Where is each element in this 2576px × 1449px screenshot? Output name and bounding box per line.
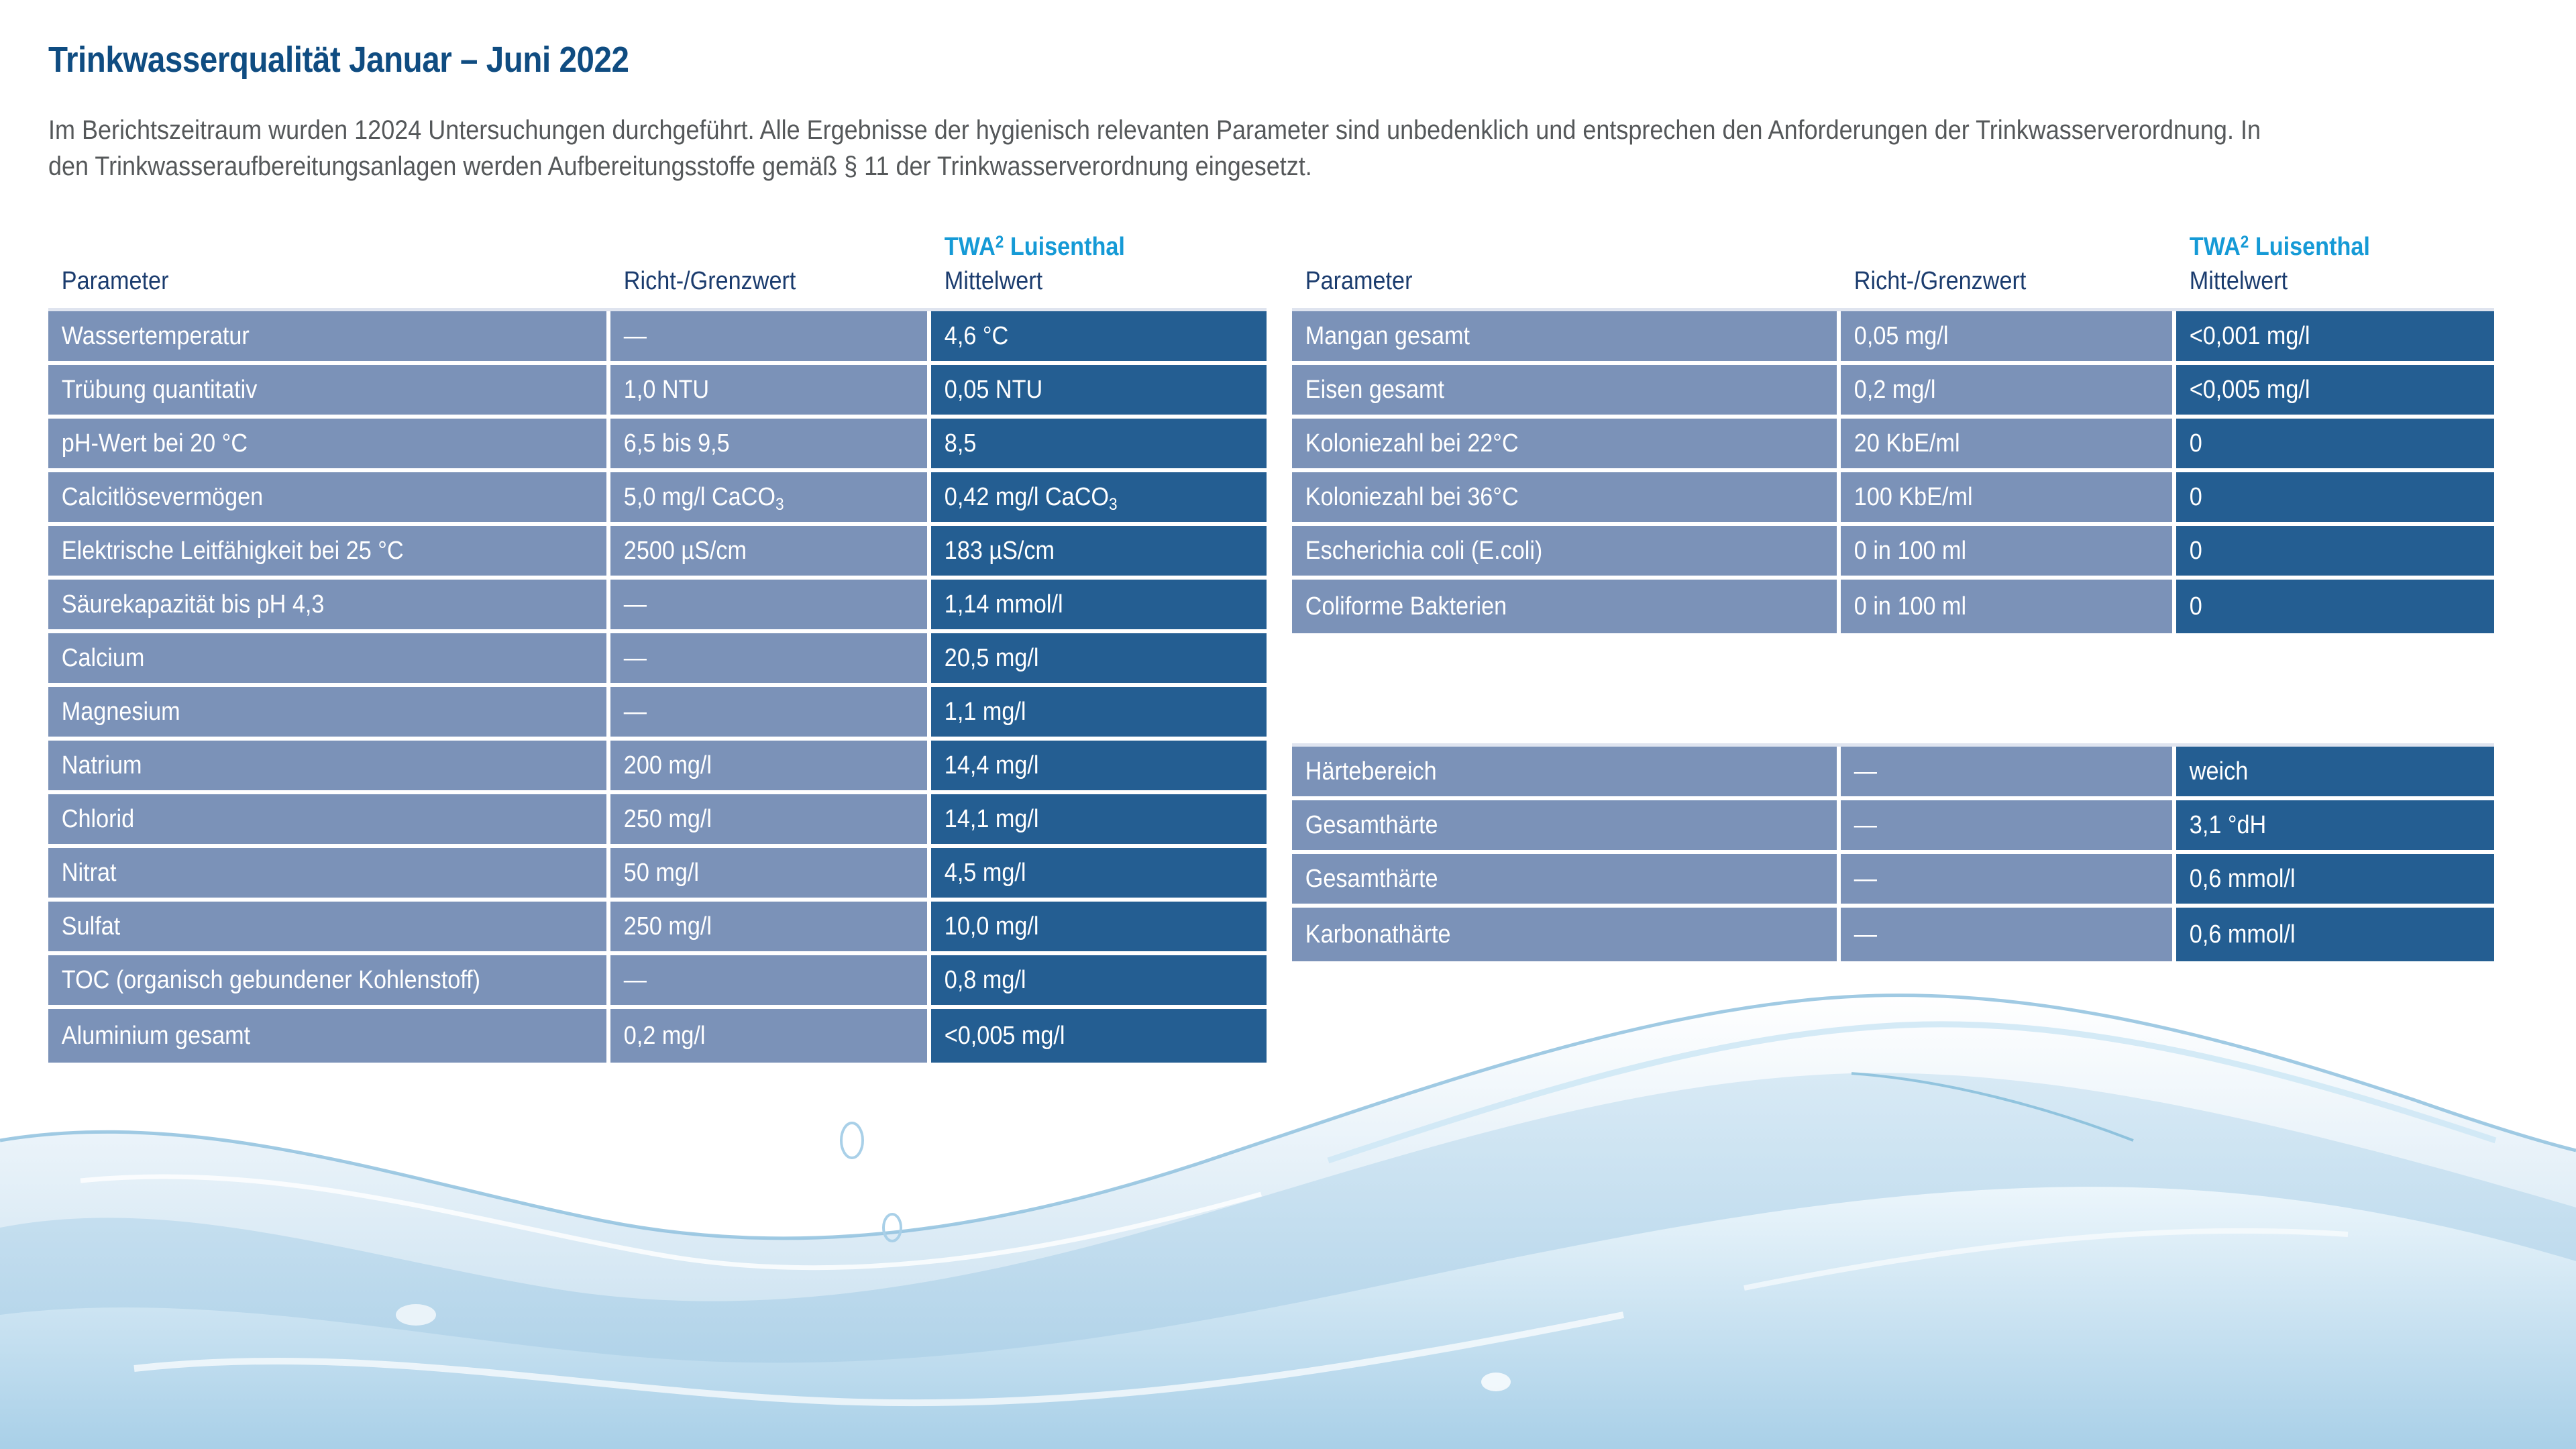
table-row: Mangan gesamt0,05 mg/l<0,001 mg/l: [1292, 311, 2494, 365]
header-cell-value: TWA2 Luisenthal Mittelwert: [931, 211, 1267, 311]
cell-value-text: 0: [2176, 484, 2463, 510]
table-row: Magnesium—1,1 mg/l: [48, 687, 1267, 741]
cell-value: <0,005 mg/l: [2176, 365, 2494, 419]
cell-value-text: 0: [2176, 594, 2463, 619]
cell-value: 183 µS/cm: [931, 526, 1267, 580]
cell-limit-text: 250 mg/l: [610, 914, 896, 939]
cell-parameter-text: Coliforme Bakterien: [1292, 594, 1782, 619]
cell-limit: 0,05 mg/l: [1841, 311, 2176, 365]
table-left-body: Wassertemperatur—4,6 °CTrübung quantitat…: [48, 311, 1267, 1063]
cell-parameter-text: Nitrat: [48, 860, 551, 885]
cell-parameter-text: Trübung quantitativ: [48, 377, 551, 402]
table-row: TOC (organisch gebundener Kohlenstoff)—0…: [48, 955, 1267, 1009]
cell-limit: —: [1841, 854, 2176, 908]
cell-value: 10,0 mg/l: [931, 902, 1267, 955]
cell-value-text: 183 µS/cm: [931, 538, 1233, 563]
cell-parameter: Härtebereich: [1292, 747, 1841, 800]
header-label-mittelwert: Mittelwert: [931, 267, 1233, 296]
table-row: Gesamthärte—3,1 °dH: [1292, 800, 2494, 854]
cell-parameter: Trübung quantitativ: [48, 365, 610, 419]
cell-parameter: Koloniezahl bei 36°C: [1292, 472, 1841, 526]
cell-value-text: <0,005 mg/l: [931, 1023, 1233, 1049]
cell-value: 1,14 mmol/l: [931, 580, 1267, 633]
cell-value-text: 0,6 mmol/l: [2176, 866, 2463, 892]
cell-limit-text: —: [610, 699, 896, 724]
cell-limit: 200 mg/l: [610, 741, 931, 794]
cell-limit: 5,0 mg/l CaCO3: [610, 472, 931, 526]
cell-value: 0: [2176, 472, 2494, 526]
cell-limit: 2500 µS/cm: [610, 526, 931, 580]
header-label-twa-luisenthal: TWA2 Luisenthal: [2176, 233, 2463, 262]
cell-limit: —: [610, 580, 931, 633]
cell-value: 3,1 °dH: [2176, 800, 2494, 854]
header-label-parameter: Parameter: [1292, 267, 1786, 296]
cell-value-text: 0,8 mg/l: [931, 967, 1233, 993]
cell-parameter-text: pH-Wert bei 20 °C: [48, 431, 551, 456]
cell-value-text: 14,4 mg/l: [931, 753, 1233, 778]
cell-value: 4,5 mg/l: [931, 848, 1267, 902]
cell-parameter-text: Sulfat: [48, 914, 551, 939]
header-label-limit: Richt-/Grenzwert: [610, 267, 899, 296]
cell-parameter-text: TOC (organisch gebundener Kohlenstoff): [48, 967, 551, 993]
cell-limit: 20 KbE/ml: [1841, 419, 2176, 472]
table-row: Escherichia coli (E.coli)0 in 100 ml0: [1292, 526, 2494, 580]
table-row: Wassertemperatur—4,6 °C: [48, 311, 1267, 365]
cell-value: 0: [2176, 419, 2494, 472]
cell-limit-text: —: [610, 967, 896, 993]
cell-parameter-text: Natrium: [48, 753, 551, 778]
cell-parameter: Chlorid: [48, 794, 610, 848]
table-row: Sulfat250 mg/l10,0 mg/l: [48, 902, 1267, 955]
cell-parameter: Sulfat: [48, 902, 610, 955]
cell-limit: 250 mg/l: [610, 794, 931, 848]
intro-paragraph: Im Berichtszeitraum wurden 12024 Untersu…: [48, 113, 2276, 184]
cell-value: 0,05 NTU: [931, 365, 1267, 419]
cell-limit-text: —: [610, 645, 896, 671]
cell-limit: —: [1841, 800, 2176, 854]
cell-limit: 250 mg/l: [610, 902, 931, 955]
cell-parameter: Coliforme Bakterien: [1292, 580, 1841, 633]
cell-parameter: Gesamthärte: [1292, 854, 1841, 908]
cell-value-text: 0: [2176, 538, 2463, 563]
cell-limit: —: [1841, 908, 2176, 961]
cell-parameter-text: Koloniezahl bei 22°C: [1292, 431, 1782, 456]
table-row: Eisen gesamt0,2 mg/l<0,005 mg/l: [1292, 365, 2494, 419]
cell-parameter: Escherichia coli (E.coli): [1292, 526, 1841, 580]
cell-parameter-text: Koloniezahl bei 36°C: [1292, 484, 1782, 510]
table-row: Aluminium gesamt0,2 mg/l<0,005 mg/l: [48, 1009, 1267, 1063]
table-row: Säurekapazität bis pH 4,3—1,14 mmol/l: [48, 580, 1267, 633]
cell-limit-text: 0 in 100 ml: [1841, 538, 2139, 563]
cell-value: <0,001 mg/l: [2176, 311, 2494, 365]
cell-parameter-text: Gesamthärte: [1292, 866, 1782, 892]
cell-parameter-text: Elektrische Leitfähigkeit bei 25 °C: [48, 538, 551, 563]
cell-limit: 1,0 NTU: [610, 365, 931, 419]
cell-value: 0,6 mmol/l: [2176, 854, 2494, 908]
cell-parameter: Calcium: [48, 633, 610, 687]
cell-parameter: Gesamthärte: [1292, 800, 1841, 854]
cell-limit-text: —: [610, 592, 896, 617]
cell-value: weich: [2176, 747, 2494, 800]
table-row: Koloniezahl bei 36°C100 KbE/ml0: [1292, 472, 2494, 526]
table-row: Calcium—20,5 mg/l: [48, 633, 1267, 687]
table-row: Chlorid250 mg/l14,1 mg/l: [48, 794, 1267, 848]
cell-value-text: 10,0 mg/l: [931, 914, 1233, 939]
cell-value-text: 0,42 mg/l CaCO3: [931, 484, 1233, 510]
cell-value-text: 0,05 NTU: [931, 377, 1233, 402]
cell-parameter-text: Calcitlösevermögen: [48, 484, 551, 510]
cell-parameter-text: Magnesium: [48, 699, 551, 724]
cell-parameter-text: Calcium: [48, 645, 551, 671]
cell-limit: 0,2 mg/l: [1841, 365, 2176, 419]
page-title: Trinkwasserqualität Januar – Juni 2022: [48, 39, 629, 80]
cell-value-text: 14,1 mg/l: [931, 806, 1233, 832]
header-cell-parameter: Parameter: [48, 211, 610, 311]
table-chemical-microbiological-parameters: Parameter Richt-/Grenzwert TWA2 Luisenth…: [1292, 211, 2494, 633]
cell-limit-text: 0 in 100 ml: [1841, 594, 2139, 619]
table-row: Trübung quantitativ1,0 NTU0,05 NTU: [48, 365, 1267, 419]
header-cell-limit: Richt-/Grenzwert: [610, 211, 931, 311]
cell-limit: 100 KbE/ml: [1841, 472, 2176, 526]
cell-parameter: Wassertemperatur: [48, 311, 610, 365]
cell-limit-text: —: [1841, 866, 2139, 892]
cell-limit: 6,5 bis 9,5: [610, 419, 931, 472]
cell-limit-text: 1,0 NTU: [610, 377, 896, 402]
header-cell-value: TWA2 Luisenthal Mittelwert: [2176, 211, 2494, 311]
table-row: pH-Wert bei 20 °C6,5 bis 9,58,5: [48, 419, 1267, 472]
table-right-chem-body: Mangan gesamt0,05 mg/l<0,001 mg/lEisen g…: [1292, 311, 2494, 633]
cell-value-text: 0: [2176, 431, 2463, 456]
cell-limit-text: 250 mg/l: [610, 806, 896, 832]
cell-parameter: Koloniezahl bei 22°C: [1292, 419, 1841, 472]
header-cell-parameter: Parameter: [1292, 211, 1841, 311]
cell-parameter-text: Chlorid: [48, 806, 551, 832]
cell-parameter-text: Härtebereich: [1292, 759, 1782, 784]
cell-limit-text: 2500 µS/cm: [610, 538, 896, 563]
cell-value: 0,6 mmol/l: [2176, 908, 2494, 961]
cell-parameter: TOC (organisch gebundener Kohlenstoff): [48, 955, 610, 1009]
cell-parameter-text: Karbonathärte: [1292, 922, 1782, 947]
cell-parameter: pH-Wert bei 20 °C: [48, 419, 610, 472]
cell-value: 0: [2176, 526, 2494, 580]
table-physical-chemical-parameters: Parameter Richt-/Grenzwert TWA2 Luisenth…: [48, 211, 1267, 1063]
header-cell-limit: Richt-/Grenzwert: [1841, 211, 2176, 311]
cell-limit-text: —: [610, 323, 896, 349]
cell-limit-text: 5,0 mg/l CaCO3: [610, 484, 896, 510]
cell-value-text: 4,5 mg/l: [931, 860, 1233, 885]
cell-limit: —: [1841, 747, 2176, 800]
cell-value: 14,1 mg/l: [931, 794, 1267, 848]
cell-parameter: Magnesium: [48, 687, 610, 741]
cell-limit: —: [610, 311, 931, 365]
cell-value-text: 20,5 mg/l: [931, 645, 1233, 671]
table-header-row: Parameter Richt-/Grenzwert TWA2 Luisenth…: [48, 211, 1267, 311]
cell-value: <0,005 mg/l: [931, 1009, 1267, 1063]
cell-parameter: Nitrat: [48, 848, 610, 902]
cell-parameter-text: Eisen gesamt: [1292, 377, 1782, 402]
cell-value: 0: [2176, 580, 2494, 633]
cell-value-text: <0,001 mg/l: [2176, 323, 2463, 349]
cell-parameter: Mangan gesamt: [1292, 311, 1841, 365]
table-row: Härtebereich—weich: [1292, 747, 2494, 800]
cell-limit: 0 in 100 ml: [1841, 526, 2176, 580]
cell-parameter-text: Aluminium gesamt: [48, 1023, 551, 1049]
cell-value: 4,6 °C: [931, 311, 1267, 365]
table-row: Calcitlösevermögen5,0 mg/l CaCO30,42 mg/…: [48, 472, 1267, 526]
cell-limit-text: 0,05 mg/l: [1841, 323, 2139, 349]
cell-parameter: Natrium: [48, 741, 610, 794]
cell-value: 1,1 mg/l: [931, 687, 1267, 741]
cell-value-text: 1,14 mmol/l: [931, 592, 1233, 617]
header-label-limit: Richt-/Grenzwert: [1841, 267, 2143, 296]
header-label-twa-luisenthal: TWA2 Luisenthal: [931, 233, 1233, 262]
cell-limit-text: 100 KbE/ml: [1841, 484, 2139, 510]
table-header-row: Parameter Richt-/Grenzwert TWA2 Luisenth…: [1292, 211, 2494, 311]
table-right-hardness-body: Härtebereich—weichGesamthärte—3,1 °dHGes…: [1292, 747, 2494, 961]
table-row: Coliforme Bakterien0 in 100 ml0: [1292, 580, 2494, 633]
table-water-hardness: Härtebereich—weichGesamthärte—3,1 °dHGes…: [1292, 743, 2494, 961]
cell-limit-text: —: [1841, 922, 2139, 947]
cell-value-text: weich: [2176, 759, 2463, 784]
header-label-parameter: Parameter: [48, 267, 554, 296]
cell-value: 14,4 mg/l: [931, 741, 1267, 794]
cell-parameter-text: Mangan gesamt: [1292, 323, 1782, 349]
cell-parameter: Elektrische Leitfähigkeit bei 25 °C: [48, 526, 610, 580]
cell-parameter-text: Gesamthärte: [1292, 812, 1782, 838]
cell-limit-text: 200 mg/l: [610, 753, 896, 778]
cell-parameter-text: Wassertemperatur: [48, 323, 551, 349]
header-label-mittelwert: Mittelwert: [2176, 267, 2463, 296]
cell-limit-text: 6,5 bis 9,5: [610, 431, 896, 456]
cell-parameter: Aluminium gesamt: [48, 1009, 610, 1063]
cell-value-text: 1,1 mg/l: [931, 699, 1233, 724]
cell-limit: —: [610, 955, 931, 1009]
cell-limit-text: 20 KbE/ml: [1841, 431, 2139, 456]
cell-value: 0,42 mg/l CaCO3: [931, 472, 1267, 526]
table-row: Koloniezahl bei 22°C20 KbE/ml0: [1292, 419, 2494, 472]
table-row: Natrium200 mg/l14,4 mg/l: [48, 741, 1267, 794]
cell-value: 20,5 mg/l: [931, 633, 1267, 687]
cell-parameter: Karbonathärte: [1292, 908, 1841, 961]
table-row: Elektrische Leitfähigkeit bei 25 °C2500 …: [48, 526, 1267, 580]
cell-value-text: 0,6 mmol/l: [2176, 922, 2463, 947]
cell-limit: —: [610, 687, 931, 741]
cell-limit: 50 mg/l: [610, 848, 931, 902]
table-row: Gesamthärte—0,6 mmol/l: [1292, 854, 2494, 908]
cell-value: 0,8 mg/l: [931, 955, 1267, 1009]
cell-value-text: 8,5: [931, 431, 1233, 456]
cell-value-text: 4,6 °C: [931, 323, 1233, 349]
table-row: Karbonathärte—0,6 mmol/l: [1292, 908, 2494, 961]
cell-value-text: <0,005 mg/l: [2176, 377, 2463, 402]
cell-limit: 0 in 100 ml: [1841, 580, 2176, 633]
cell-value: 8,5: [931, 419, 1267, 472]
table-row: Nitrat50 mg/l4,5 mg/l: [48, 848, 1267, 902]
cell-parameter: Säurekapazität bis pH 4,3: [48, 580, 610, 633]
cell-limit-text: —: [1841, 759, 2139, 784]
cell-limit-text: 50 mg/l: [610, 860, 896, 885]
cell-value-text: 3,1 °dH: [2176, 812, 2463, 838]
cell-parameter: Calcitlösevermögen: [48, 472, 610, 526]
cell-parameter-text: Escherichia coli (E.coli): [1292, 538, 1782, 563]
cell-limit-text: 0,2 mg/l: [1841, 377, 2139, 402]
cell-limit-text: —: [1841, 812, 2139, 838]
cell-parameter-text: Säurekapazität bis pH 4,3: [48, 592, 551, 617]
cell-limit: 0,2 mg/l: [610, 1009, 931, 1063]
cell-parameter: Eisen gesamt: [1292, 365, 1841, 419]
cell-limit: —: [610, 633, 931, 687]
cell-limit-text: 0,2 mg/l: [610, 1023, 896, 1049]
